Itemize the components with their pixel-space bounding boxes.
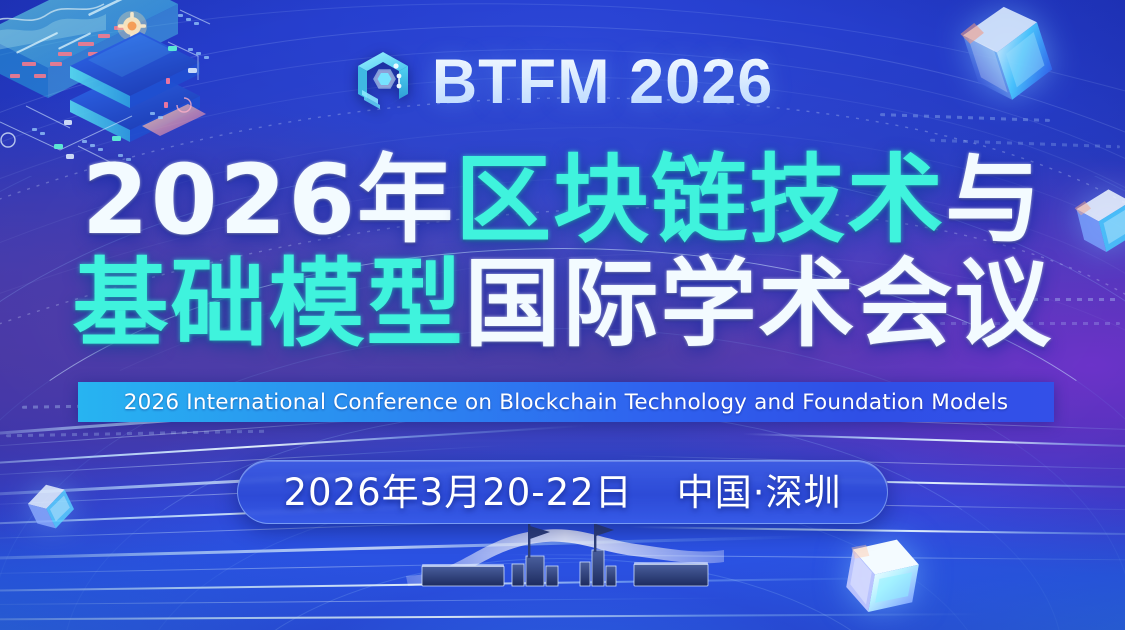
date-location-pill: 2026年3月20-22日 中国·深圳 — [237, 460, 889, 524]
title-cn-l2-seg2: 国际学术会议 — [465, 248, 1053, 360]
title-cn-line-2: 基础模型国际学术会议 — [0, 252, 1125, 356]
conference-title-en-bar: 2026 International Conference on Blockch… — [78, 382, 1054, 422]
conference-date: 2026年3月20-22日 — [284, 474, 633, 511]
conference-location: 中国·深圳 — [677, 474, 842, 511]
conference-banner: BTFM 2026 2026年区块链技术与 基础模型国际学术会议 2026 In… — [0, 0, 1125, 630]
title-cn-line-1: 2026年区块链技术与 — [0, 148, 1125, 252]
brand-name: BTFM 2026 — [432, 51, 774, 114]
title-cn-l1-seg1: 2026年 — [82, 144, 455, 256]
title-cn-l2-seg1: 基础模型 — [73, 248, 465, 360]
brand-lockup: BTFM 2026 — [0, 48, 1125, 116]
banner-content: BTFM 2026 2026年区块链技术与 基础模型国际学术会议 2026 In… — [0, 0, 1125, 630]
title-cn-l1-seg3: 与 — [945, 144, 1043, 256]
conference-title-cn: 2026年区块链技术与 基础模型国际学术会议 — [0, 148, 1125, 356]
title-cn-l1-seg2: 区块链技术 — [455, 144, 945, 256]
conference-title-en: 2026 International Conference on Blockch… — [124, 390, 1008, 415]
hexagon-cube-logo-icon — [352, 48, 414, 116]
